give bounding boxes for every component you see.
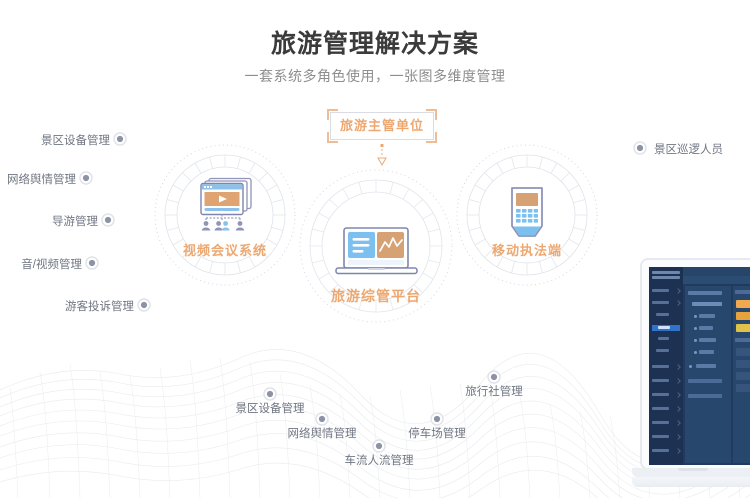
- laptop-base-notch: [678, 468, 708, 471]
- connector-label-left-2[interactable]: 导游管理: [0, 213, 98, 229]
- sidebar-item[interactable]: [652, 349, 680, 353]
- node-label-video-conference[interactable]: 视频会议系统: [155, 240, 295, 259]
- laptop-dashboard-icon[interactable]: [334, 226, 419, 280]
- sidebar-item[interactable]: [652, 301, 680, 305]
- sidebar-item[interactable]: [652, 289, 680, 293]
- sidebar-item-selected[interactable]: [652, 325, 680, 331]
- connector-label-left-1[interactable]: 网络舆情管理: [0, 171, 76, 187]
- laptop-admin-dashboard: [640, 258, 750, 486]
- connector-label-left-3[interactable]: 音/视频管理: [0, 256, 82, 272]
- dashboard-tabbar[interactable]: [683, 276, 750, 284]
- dashboard-logo: [652, 271, 680, 281]
- connector-label-left-0[interactable]: 景区设备管理: [0, 132, 110, 148]
- sidebar-item[interactable]: [652, 379, 680, 383]
- connector-label-left-4[interactable]: 游客投诉管理: [0, 298, 134, 314]
- dashboard-tree-panel[interactable]: [685, 286, 731, 463]
- sidebar-item[interactable]: [652, 407, 680, 411]
- connector-label-bottom-4[interactable]: 旅行社管理: [449, 383, 539, 399]
- poster-canvas: 旅游管理解决方案 一套系统多角色使用，一张图多维度管理 旅游主管单位: [0, 0, 750, 498]
- node-label-mobile-enforcement[interactable]: 移动执法端: [457, 240, 597, 259]
- mobile-device-icon[interactable]: [504, 186, 550, 242]
- sidebar-item[interactable]: [652, 393, 680, 397]
- dashboard-content-panel[interactable]: [733, 286, 750, 463]
- video-window-icon[interactable]: [196, 176, 256, 232]
- laptop-base: [632, 468, 750, 477]
- connector-label-bottom-3[interactable]: 停车场管理: [392, 425, 482, 441]
- dashboard-sidebar[interactable]: [649, 267, 683, 465]
- sidebar-item[interactable]: [652, 337, 680, 341]
- sidebar-item[interactable]: [652, 421, 680, 425]
- dashboard-body: [685, 286, 750, 463]
- connector-label-bottom-0[interactable]: 景区设备管理: [225, 400, 315, 416]
- laptop-keyboard-deck: [632, 477, 750, 487]
- connector-label-bottom-2[interactable]: 车流人流管理: [334, 452, 424, 468]
- sidebar-item[interactable]: [652, 435, 680, 439]
- node-label-tourism-platform[interactable]: 旅游综管平台: [301, 286, 451, 306]
- sidebar-item[interactable]: [652, 313, 680, 317]
- sidebar-item[interactable]: [652, 449, 680, 453]
- connector-label-bottom-1[interactable]: 网络舆情管理: [277, 425, 367, 441]
- dashboard-screen: [649, 267, 750, 465]
- sidebar-item[interactable]: [652, 365, 680, 369]
- connector-label-right-0[interactable]: 景区巡逻人员: [654, 141, 750, 157]
- dashboard-topbar: [683, 267, 750, 276]
